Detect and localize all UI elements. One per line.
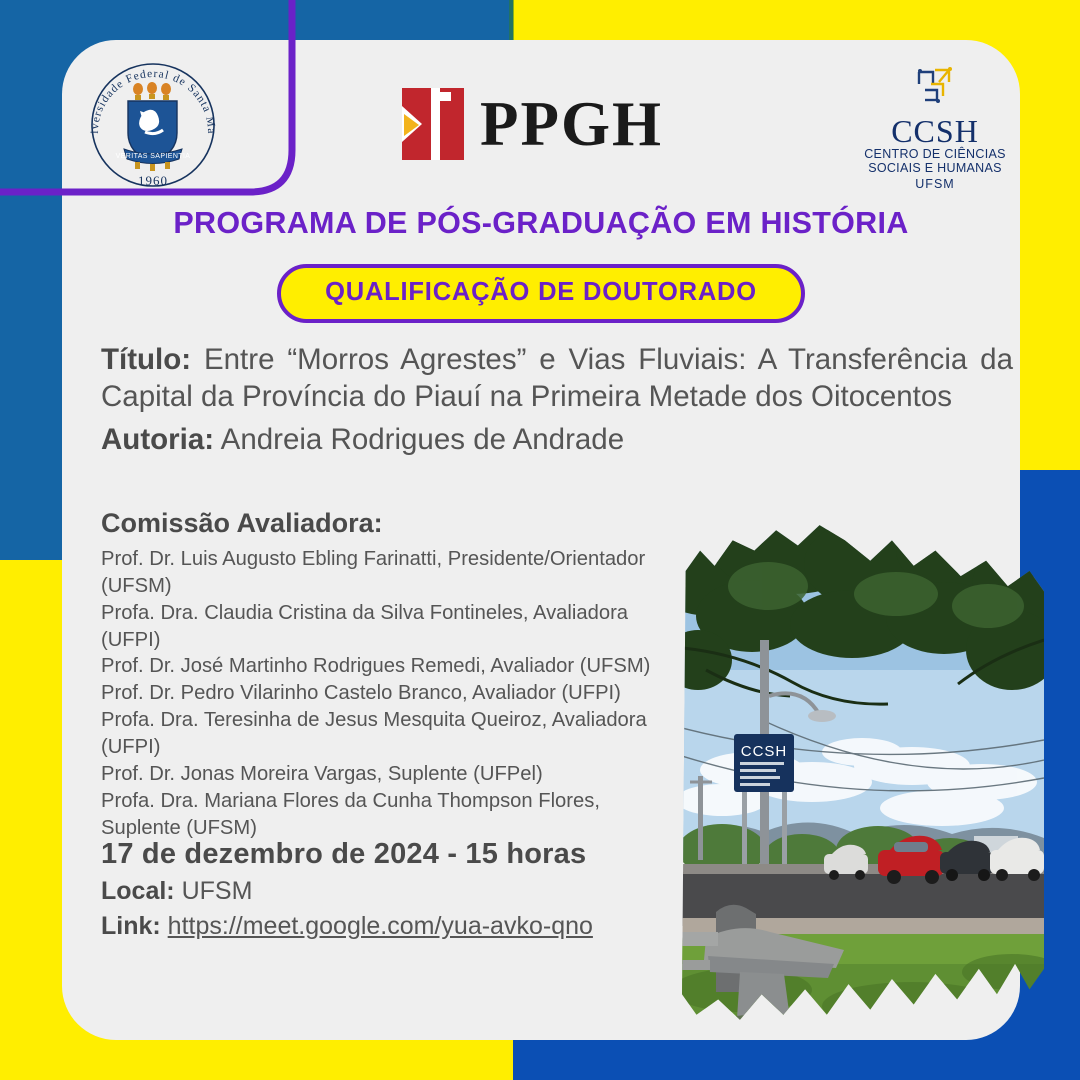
committee-member: Profa. Dra. Claudia Cristina da Silva Fo… (101, 600, 676, 654)
ccsh-wordmark: CCSH (860, 115, 1010, 147)
ccsh-institution: UFSM (860, 177, 1010, 191)
committee-member: Prof. Dr. Jonas Moreira Vargas, Suplente… (101, 761, 676, 788)
logo-row: Universidade Federal de Santa Maria VERI… (62, 46, 1020, 196)
event-local-value: UFSM (182, 877, 253, 905)
work-title-label: Título: (101, 343, 191, 376)
ccsh-logo: CCSH CENTRO DE CIÊNCIAS SOCIAIS E HUMANA… (860, 64, 1010, 191)
campus-photo: CCSH (682, 520, 1044, 1030)
qualification-badge: QUALIFICAÇÃO DE DOUTORADO (277, 264, 805, 323)
ccsh-subtitle-line1: CENTRO DE CIÊNCIAS (860, 147, 1010, 161)
ccsh-symbol-icon (905, 64, 965, 108)
ppgh-logo: PPGH (402, 88, 663, 160)
work-author-name: Andreia Rodrigues de Andrade (221, 423, 624, 456)
committee-member: Prof. Dr. Pedro Vilarinho Castelo Branco… (101, 680, 676, 707)
work-title-row: Título: Entre “Morros Agrestes” e Vias F… (101, 342, 1013, 415)
badge-container: QUALIFICAÇÃO DE DOUTORADO (62, 264, 1020, 323)
committee-heading: Comissão Avaliadora: (101, 508, 676, 539)
ppgh-wordmark: PPGH (480, 93, 663, 156)
poster-root: Universidade Federal de Santa Maria VERI… (0, 0, 1080, 1080)
work-author-row: Autoria: Andreia Rodrigues de Andrade (101, 421, 1013, 459)
committee-member: Prof. Dr. Luis Augusto Ebling Farinatti,… (101, 546, 676, 600)
work-title-text: Entre “Morros Agrestes” e Vias Fluviais:… (101, 343, 1013, 413)
event-local-row: Local: UFSM (101, 877, 676, 906)
work-info: Título: Entre “Morros Agrestes” e Vias F… (101, 342, 1013, 460)
committee-list: Prof. Dr. Luis Augusto Ebling Farinatti,… (101, 546, 676, 841)
work-author-label: Autoria: (101, 423, 214, 456)
ufsm-seal-icon: Universidade Federal de Santa Maria VERI… (82, 54, 224, 196)
svg-text:1960: 1960 (138, 173, 168, 188)
svg-text:CCSH: CCSH (741, 743, 788, 760)
committee-member: Prof. Dr. José Martinho Rodrigues Remedi… (101, 653, 676, 680)
ccsh-subtitle-line2: SOCIAIS E HUMANAS (860, 161, 1010, 175)
event-link-url[interactable]: https://meet.google.com/yua-avko-qno (168, 912, 593, 940)
event-local-label: Local: (101, 877, 175, 905)
event-link-row: Link: https://meet.google.com/yua-avko-q… (101, 912, 676, 941)
committee-section: Comissão Avaliadora: Prof. Dr. Luis Augu… (101, 508, 676, 841)
svg-text:VERITAS SAPIENTIA: VERITAS SAPIENTIA (116, 153, 191, 160)
ppgh-mark-icon (402, 88, 464, 160)
program-title: PROGRAMA DE PÓS-GRADUAÇÃO EM HISTÓRIA (62, 206, 1020, 241)
event-datetime: 17 de dezembro de 2024 - 15 horas (101, 838, 676, 871)
event-details: 17 de dezembro de 2024 - 15 horas Local:… (101, 838, 676, 941)
event-link-label: Link: (101, 912, 161, 940)
committee-member: Profa. Dra. Teresinha de Jesus Mesquita … (101, 707, 676, 761)
committee-member: Profa. Dra. Mariana Flores da Cunha Thom… (101, 788, 676, 842)
